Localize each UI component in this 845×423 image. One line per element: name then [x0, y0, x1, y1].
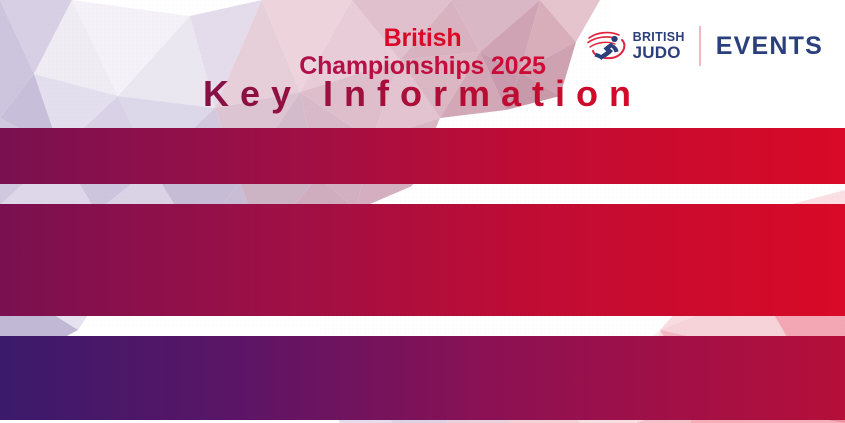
schedule-line: Cadet Weigh Ins (AM): [0, 232, 845, 260]
poster-header: British Championships 2025 Key Informati…: [0, 0, 845, 122]
brand-events-label: EVENTS: [716, 32, 823, 61]
brand-wordmark: BRITISH JUDO: [633, 31, 685, 62]
key-information-poster: British Championships 2025 Key Informati…: [0, 0, 845, 423]
schedule-line: Saturday 13th December: [0, 204, 845, 232]
page-title: Key Information: [0, 74, 845, 114]
schedule-line: Friday 12th December: [0, 128, 845, 156]
schedule-day-friday: Friday 12th December Junior Weigh Ins (P…: [0, 128, 845, 184]
schedule-line: Junior Weigh Ins (PM): [0, 156, 845, 184]
brand-wordmark-bottom: JUDO: [633, 44, 685, 61]
brand-lockup: BRITISH JUDO EVENTS: [587, 25, 823, 67]
schedule-line: Sunday 14th December: [0, 336, 845, 364]
schedule-day-saturday: Saturday 13th December Cadet Weigh Ins (…: [0, 204, 845, 316]
brand-wordmark-top: BRITISH: [633, 31, 685, 44]
schedule-line: Senior Weigh Ins (PM): [0, 288, 845, 316]
schedule-line: Pre Cadet Weigh Ins (AM): [0, 364, 845, 392]
british-judo-figure-icon: [587, 29, 629, 63]
schedule-line: Cadet & Junior Competition: [0, 260, 845, 288]
schedule-list: Friday 12th December Junior Weigh Ins (P…: [0, 128, 845, 420]
schedule-line: Pre Cadet & Senior Competition: [0, 392, 845, 420]
schedule-day-sunday: Sunday 14th December Pre Cadet Weigh Ins…: [0, 336, 845, 420]
brand-divider: [699, 26, 701, 66]
